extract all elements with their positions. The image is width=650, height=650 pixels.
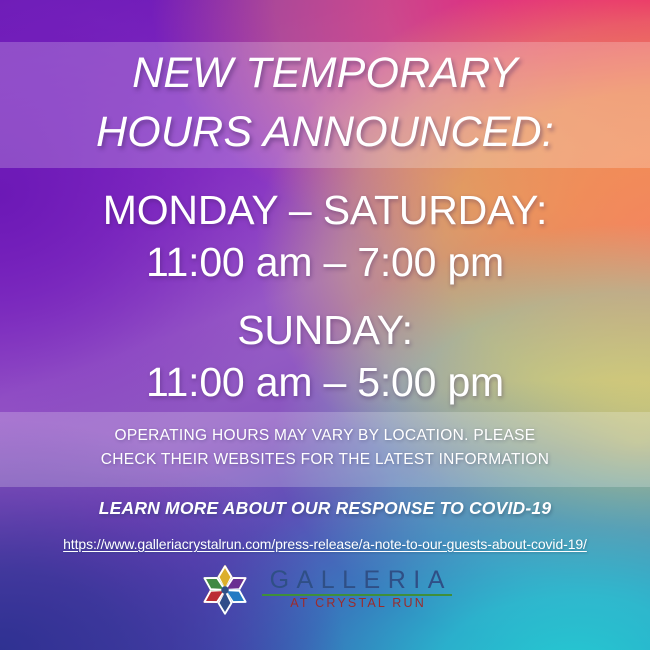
sunday-hours-time: 11:00 am – 5:00 pm bbox=[0, 356, 650, 408]
fine-print: OPERATING HOURS MAY VARY BY LOCATION. PL… bbox=[0, 424, 650, 472]
page-title: NEW TEMPORARY HOURS ANNOUNCED: bbox=[0, 44, 650, 163]
brand-wordmark: GALLERIA AT CRYSTAL RUN bbox=[262, 568, 452, 612]
hours-spacer bbox=[0, 288, 650, 304]
poster-content: NEW TEMPORARY HOURS ANNOUNCED: MONDAY – … bbox=[0, 0, 650, 650]
title-line-2: HOURS ANNOUNCED: bbox=[0, 103, 650, 162]
covid-response-link[interactable]: https://www.galleriacrystalrun.com/press… bbox=[0, 536, 650, 552]
brand-logo: GALLERIA AT CRYSTAL RUN bbox=[0, 563, 650, 617]
fine-print-line-2: CHECK THEIR WEBSITES FOR THE LATEST INFO… bbox=[0, 448, 650, 472]
brand-name: GALLERIA bbox=[262, 568, 452, 593]
title-line-1: NEW TEMPORARY bbox=[0, 44, 650, 103]
hours-block: MONDAY – SATURDAY: 11:00 am – 7:00 pm SU… bbox=[0, 184, 650, 408]
covid-response-note: LEARN MORE ABOUT OUR RESPONSE TO COVID-1… bbox=[0, 498, 650, 519]
brand-tagline: AT CRYSTAL RUN bbox=[288, 596, 426, 612]
fine-print-line-1: OPERATING HOURS MAY VARY BY LOCATION. PL… bbox=[0, 424, 650, 448]
sunday-hours-label: SUNDAY: bbox=[0, 304, 650, 356]
weekday-hours-label: MONDAY – SATURDAY: bbox=[0, 184, 650, 236]
promotional-poster: NEW TEMPORARY HOURS ANNOUNCED: MONDAY – … bbox=[0, 0, 650, 650]
pinwheel-flower-icon bbox=[198, 563, 252, 617]
weekday-hours-time: 11:00 am – 7:00 pm bbox=[0, 236, 650, 288]
